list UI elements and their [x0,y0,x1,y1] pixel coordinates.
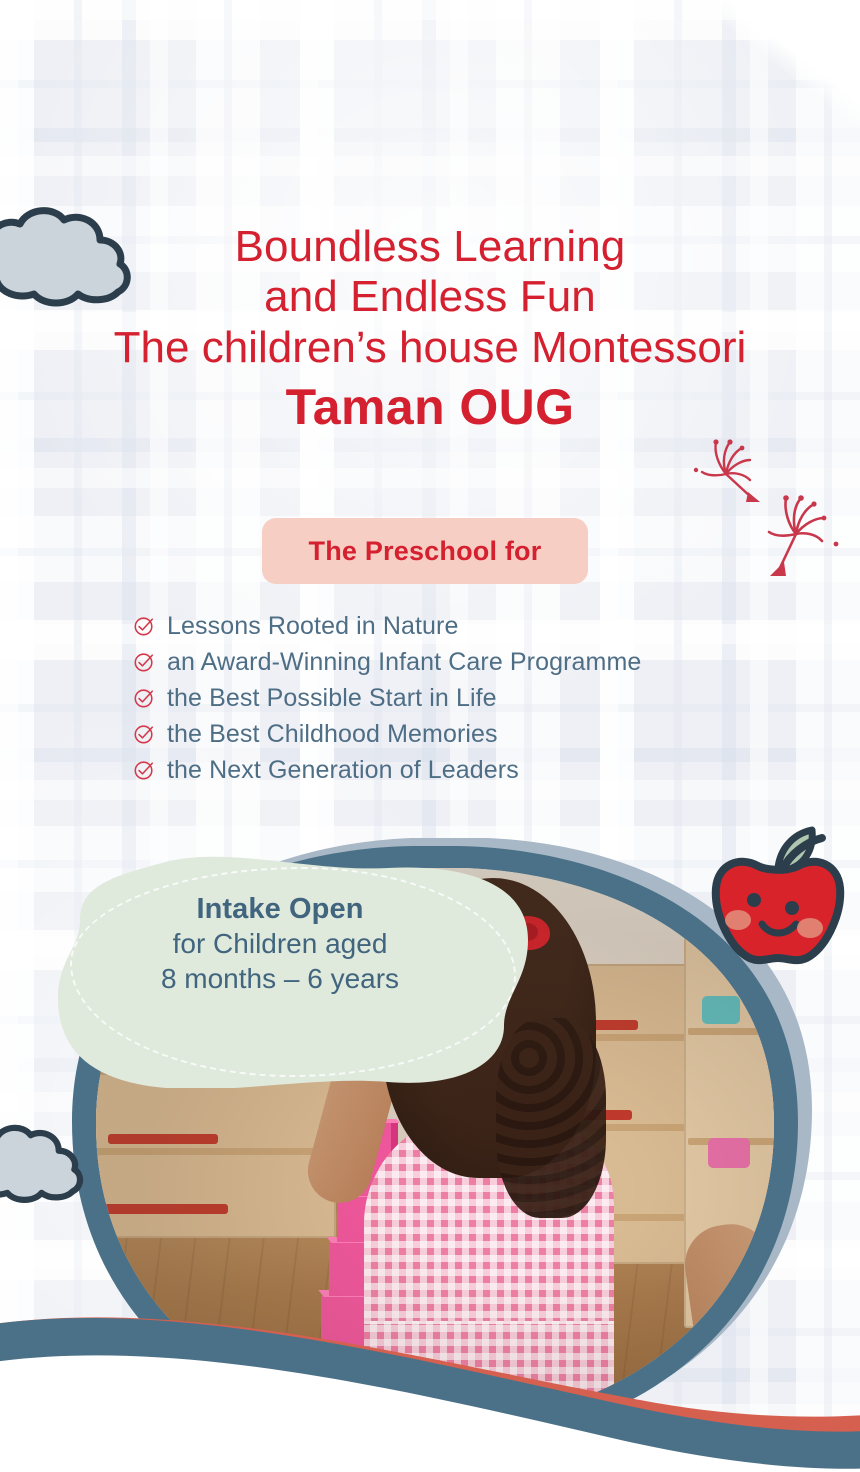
list-item: the Best Childhood Memories [133,717,641,751]
headline-brand-name: Taman OUG [0,379,860,436]
preschool-for-badge: The Preschool for [262,518,588,584]
list-item-label: the Next Generation of Leaders [167,756,519,785]
badge-label: The Preschool for [309,536,542,567]
headline-block: Boundless Learning and Endless Fun The c… [0,222,860,436]
intake-line-1: Intake Open [58,892,502,927]
intake-text-block: Intake Open for Children aged 8 months –… [58,892,502,996]
list-item: an Award-Winning Infant Care Programme [133,645,641,679]
list-item-label: the Best Possible Start in Life [167,684,497,713]
poster-root: Boundless Learning and Endless Fun The c… [0,0,860,1472]
intake-callout: Intake Open for Children aged 8 months –… [58,856,528,1088]
headline-line-1: Boundless Learning [0,222,860,272]
check-circle-icon [133,723,155,745]
list-item: Lessons Rooted in Nature [133,609,641,643]
list-item-label: an Award-Winning Infant Care Programme [167,648,641,677]
headline-line-2: and Endless Fun [0,272,860,322]
list-item-label: Lessons Rooted in Nature [167,612,458,641]
headline-line-3: The children’s house Montessori [0,323,860,373]
corner-fold-decoration [716,0,860,124]
check-circle-icon [133,651,155,673]
check-circle-icon [133,615,155,637]
list-item-label: the Best Childhood Memories [167,720,498,749]
check-circle-icon [133,687,155,709]
list-item: the Best Possible Start in Life [133,681,641,715]
check-circle-icon [133,759,155,781]
benefits-list: Lessons Rooted in Nature an Award-Winnin… [133,609,641,787]
intake-line-3: 8 months – 6 years [58,962,502,996]
intake-line-2: for Children aged [58,927,502,961]
list-item: the Next Generation of Leaders [133,753,641,787]
